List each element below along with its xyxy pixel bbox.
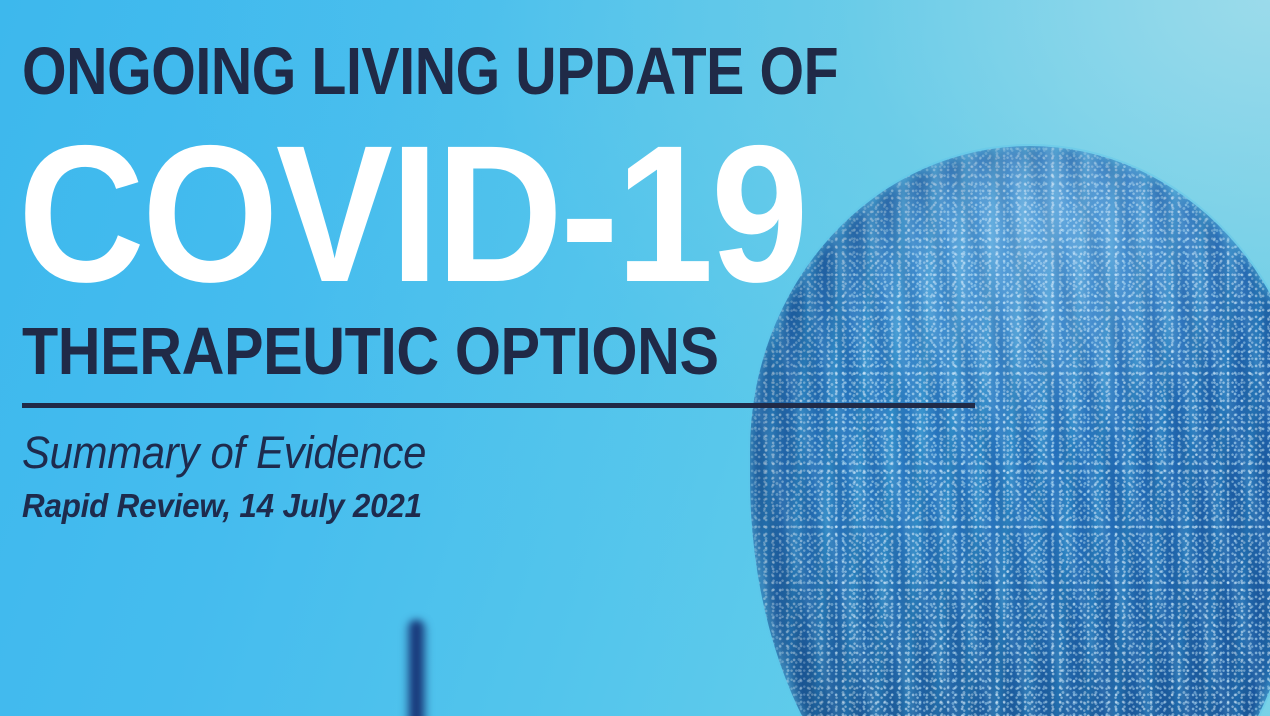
- cover-eyebrow-text: ONGOING LIVING UPDATE OF: [22, 38, 839, 105]
- cover-review-date: Rapid Review, 14 July 2021: [22, 489, 929, 522]
- blurred-navy-rod: [406, 620, 427, 716]
- cover-title-block: ONGOING LIVING UPDATE OF COVID-19 THERAP…: [22, 38, 977, 522]
- report-cover-page: ONGOING LIVING UPDATE OF COVID-19 THERAP…: [0, 0, 1270, 716]
- cover-subhead: THERAPEUTIC OPTIONS: [22, 318, 867, 385]
- cover-summary-label: Summary of Evidence: [22, 430, 910, 475]
- title-divider-rule: [22, 403, 975, 408]
- cover-headline: COVID-19: [18, 117, 881, 312]
